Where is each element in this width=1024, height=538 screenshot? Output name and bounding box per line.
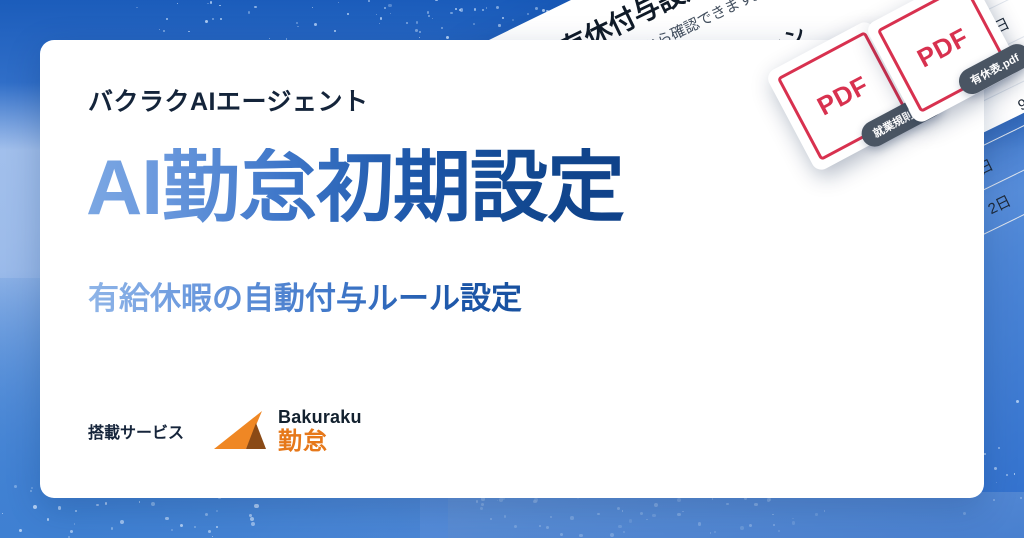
mock-overlay-veil <box>448 492 1024 538</box>
page-subtitle: 有給休暇の自動付与ルール設定 <box>88 273 522 318</box>
service-label: 搭載サービス <box>88 419 184 443</box>
eyebrow-text: バクラクAIエージェント <box>88 82 369 118</box>
bakuraku-product-name: 勤怠 <box>278 430 362 454</box>
page-title: AI勤怠初期設定 <box>86 148 624 226</box>
bakuraku-wordmark: Bakuraku <box>278 408 362 426</box>
poster-canvas: 有休付与設定が完了しました 管理者設定から確認できます。 付与日数＆シミュレーシ… <box>0 0 1024 538</box>
bakuraku-triangle-mark <box>212 409 268 453</box>
bakuraku-logo: Bakuraku 勤怠 <box>212 408 362 454</box>
service-logo-row: 搭載サービス Bakuraku 勤怠 <box>88 408 362 454</box>
